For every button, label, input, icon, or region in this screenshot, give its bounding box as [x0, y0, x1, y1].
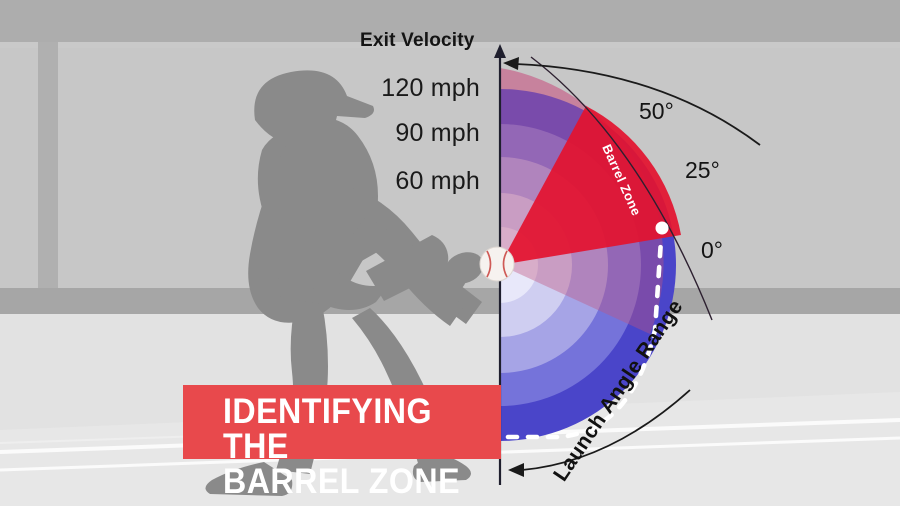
- angle-tick-25: 25°: [685, 157, 720, 184]
- infographic-canvas: Exit Velocity 120 mph 90 mph 60 mph 50° …: [0, 0, 900, 506]
- title-line-1: IDENTIFYING THE: [223, 394, 479, 464]
- title-banner: IDENTIFYING THE BARREL ZONE: [183, 385, 501, 459]
- wall-post: [38, 42, 58, 292]
- callout-endpoint-dot: [656, 222, 669, 235]
- angle-tick-0: 0°: [701, 237, 723, 264]
- title-line-2: BARREL ZONE: [223, 464, 479, 499]
- velocity-tick-60: 60 mph: [330, 167, 480, 196]
- wall-panel-left: [0, 48, 38, 292]
- angle-tick-50: 50°: [639, 98, 674, 125]
- velocity-tick-90: 90 mph: [330, 119, 480, 148]
- baseball-icon: [480, 247, 514, 281]
- velocity-tick-120: 120 mph: [330, 74, 480, 103]
- exit-velocity-axis-title: Exit Velocity: [360, 30, 475, 52]
